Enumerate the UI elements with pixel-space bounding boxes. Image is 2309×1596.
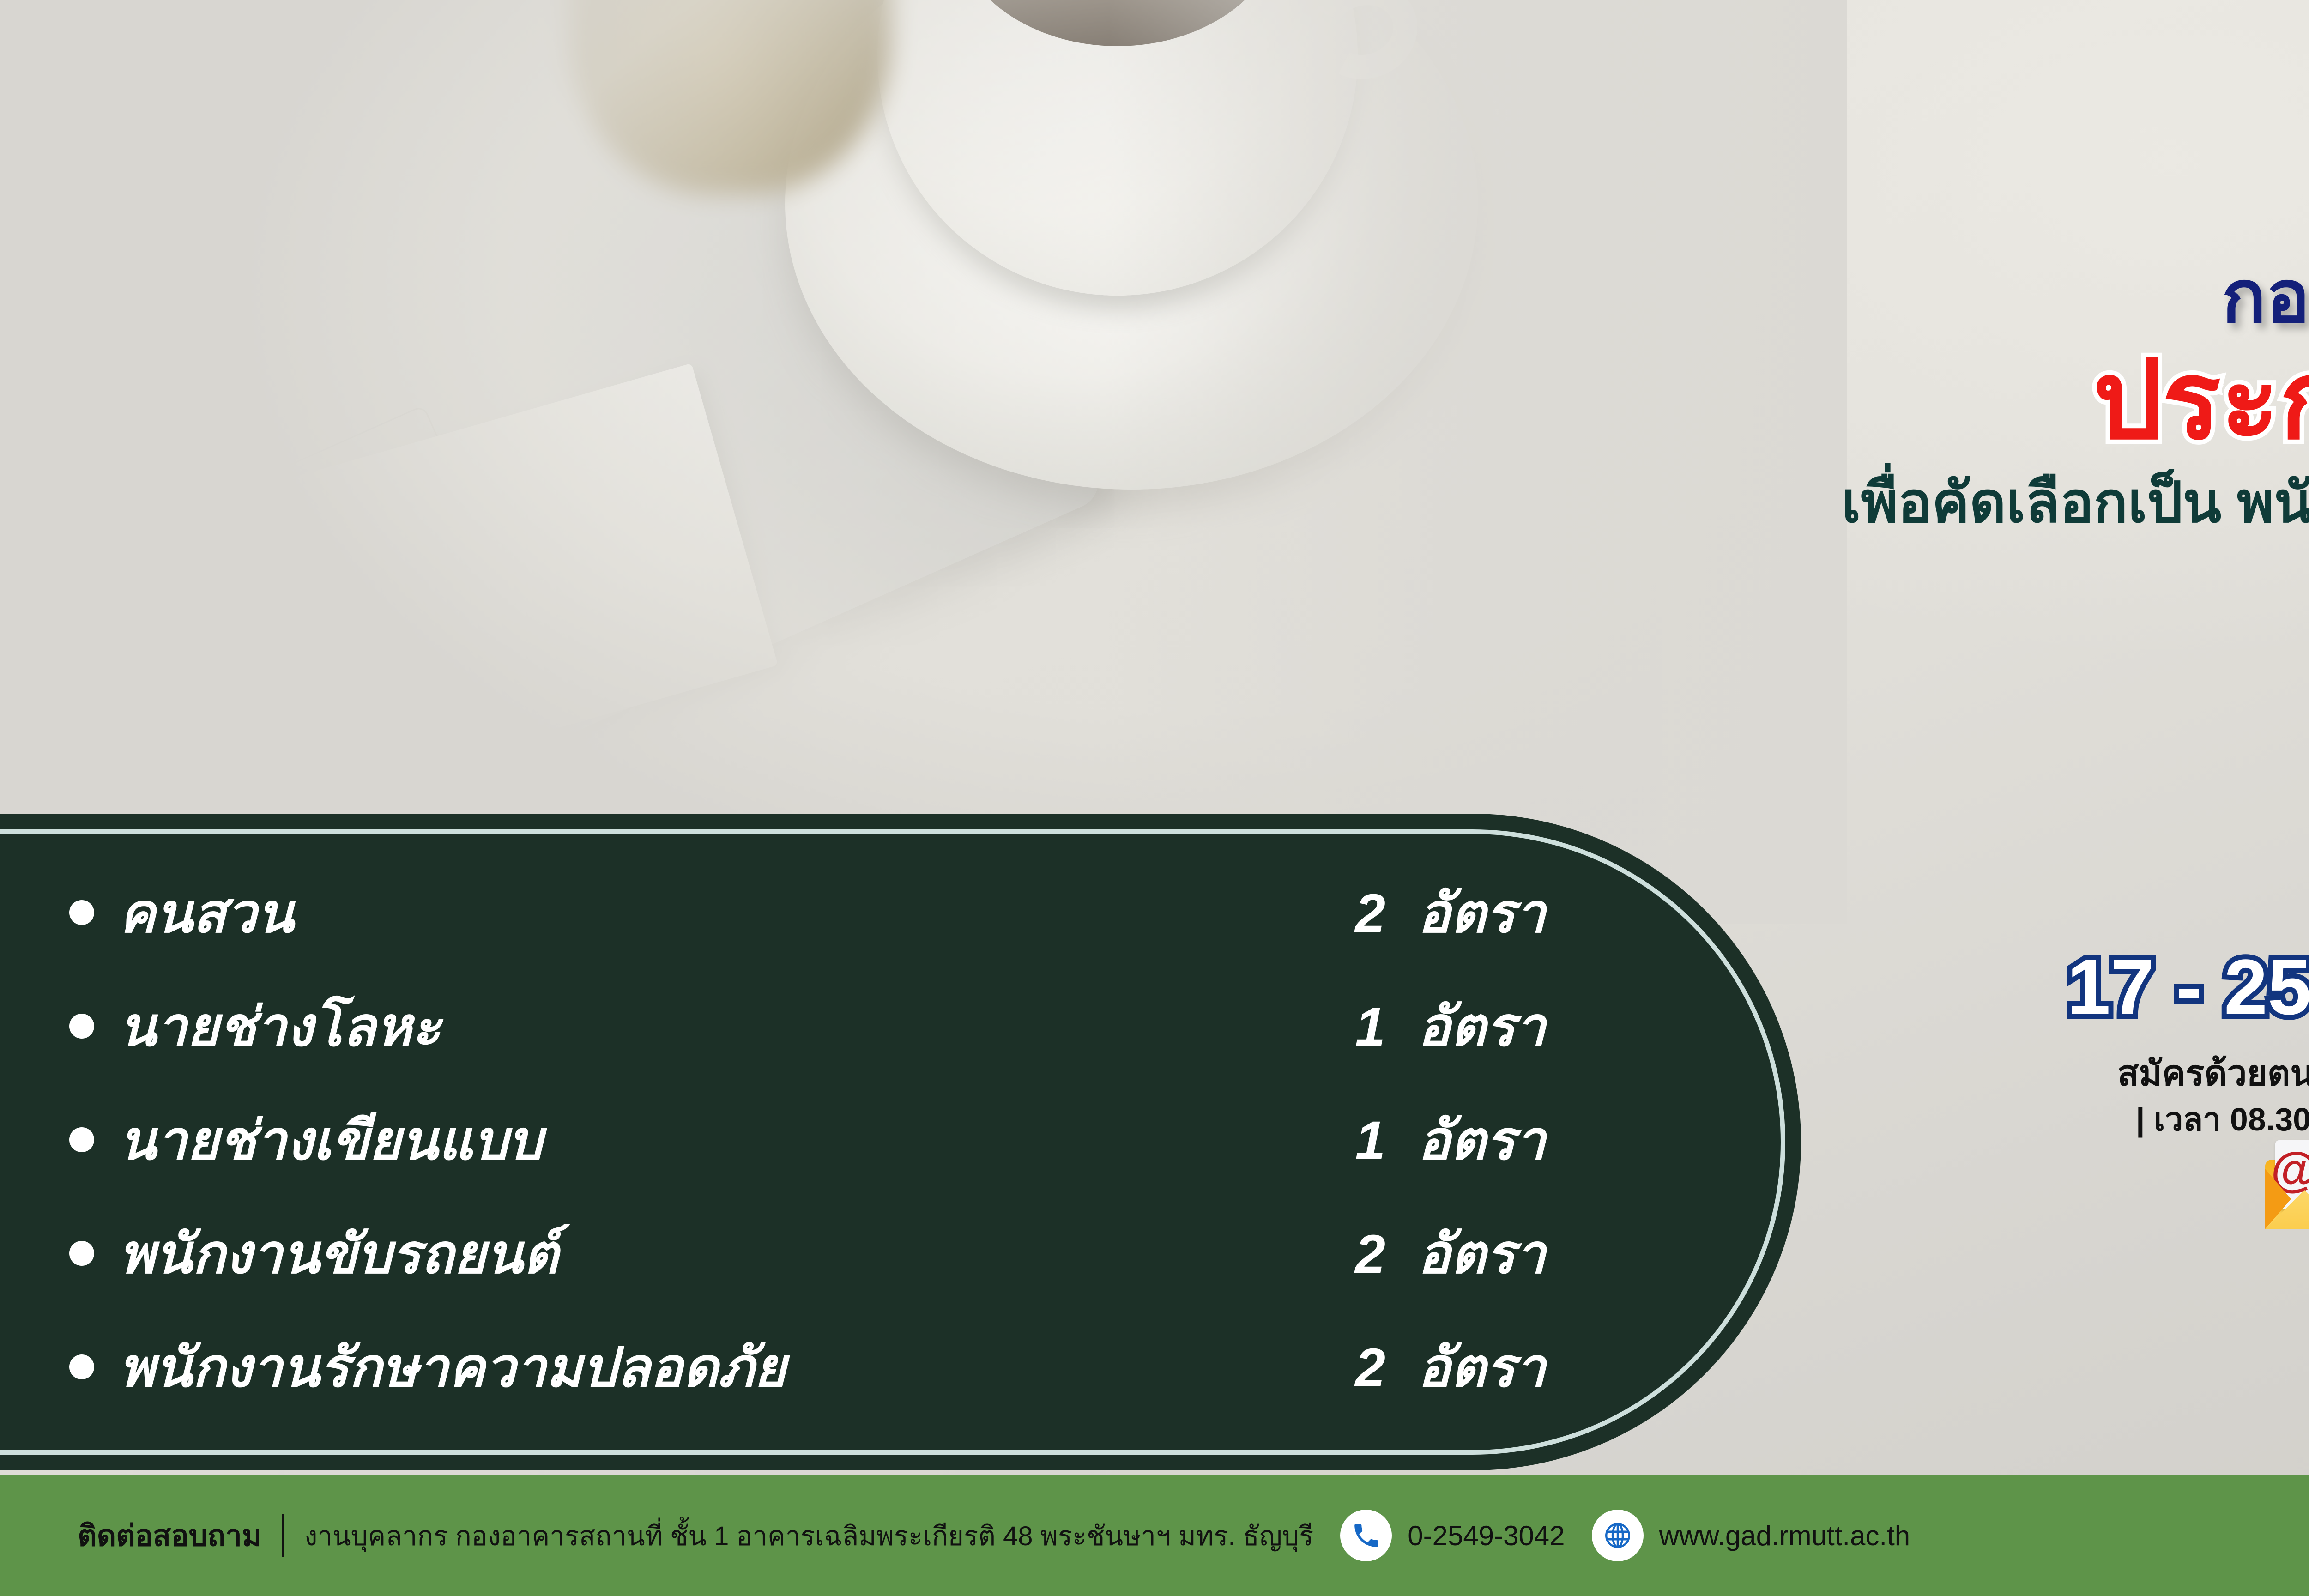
job-unit: อัตรา xyxy=(1385,1324,1538,1410)
bullet-icon xyxy=(69,1241,94,1266)
email-row: @ | aree_p@rmutt.ac.th xyxy=(1815,1160,2309,1229)
jobs-list: คนสวน 2 อัตรา นายช่างโลหะ 1 อัตรา นายช่า… xyxy=(69,869,1538,1437)
job-title: คนสวน xyxy=(119,883,1279,944)
walkin-location: สมัครด้วยตนเอง ณ กองอาคารสถานที่ มทร.ธัญ… xyxy=(1815,1052,2309,1095)
phone-number[interactable]: 0-2549-3042 xyxy=(1408,1520,1565,1552)
jobs-panel: คนสวน 2 อัตรา นายช่างโลหะ 1 อัตรา นายช่า… xyxy=(0,814,1801,1470)
job-count: 2 xyxy=(1279,1336,1385,1399)
footer-address: งานบุคลากร กองอาคารสถานที่ ชั้น 1 อาคารเ… xyxy=(304,1514,1313,1557)
job-count: 2 xyxy=(1279,882,1385,945)
list-item: พนักงานรักษาความปลอดภัย 2 อัตรา xyxy=(69,1324,1538,1410)
website-url[interactable]: www.gad.rmutt.ac.th xyxy=(1659,1520,1910,1552)
job-title: พนักงานรักษาความปลอดภัย xyxy=(119,1337,1279,1398)
bullet-icon xyxy=(69,900,94,925)
contact-label: ติดต่อสอบถาม xyxy=(78,1512,261,1559)
job-count: 1 xyxy=(1279,1109,1385,1172)
job-unit: อัตรา xyxy=(1385,1096,1538,1183)
footer-divider xyxy=(282,1514,284,1557)
globe-icon xyxy=(1592,1510,1644,1561)
job-title: นายช่างเขียนแบบ xyxy=(119,1110,1279,1171)
page-subtitle: เพื่อคัดเลือกเป็น พนักงานพิเศษเงินรายได้… xyxy=(957,472,2309,533)
office-hours: | เวลา 08.30 น. - 16.30 น. (ในวันและเวลา… xyxy=(1815,1100,2309,1140)
department-title: กองอาคารสถานที่ มทร.ธัญบุรี xyxy=(957,259,2309,336)
job-title: นายช่างโลหะ xyxy=(119,997,1279,1058)
date-label: ระหว่างวันที่ xyxy=(1815,868,2309,939)
job-count: 2 xyxy=(1279,1223,1385,1286)
list-item: คนสวน 2 อัตรา xyxy=(69,869,1538,956)
job-unit: อัตรา xyxy=(1385,1210,1538,1297)
footer-bar: ติดต่อสอบถาม งานบุคลากร กองอาคารสถานที่ … xyxy=(0,1475,2309,1596)
application-info: ระหว่างวันที่ 17 - 25 พฤศจิกายน 2568 สมั… xyxy=(1815,868,2309,1229)
job-unit: อัตรา xyxy=(1385,983,1538,1070)
list-item: พนักงานขับรถยนต์ 2 อัตรา xyxy=(69,1210,1538,1297)
bullet-icon xyxy=(69,1014,94,1039)
bullet-icon xyxy=(69,1127,94,1152)
envelope-email-icon: @ xyxy=(2265,1160,2309,1229)
page-title: ประกาศรับสมัครบุคคล xyxy=(957,344,2309,457)
job-unit: อัตรา xyxy=(1385,869,1538,956)
bullet-icon xyxy=(69,1354,94,1379)
list-item: นายช่างเขียนแบบ 1 อัตรา xyxy=(69,1096,1538,1183)
panel-bottom-border xyxy=(0,1450,259,1455)
panel-top-border xyxy=(0,829,259,834)
list-item: นายช่างโลหะ 1 อัตรา xyxy=(69,983,1538,1070)
date-range: 17 - 25 พฤศจิกายน 2568 xyxy=(1815,944,2309,1031)
job-count: 1 xyxy=(1279,996,1385,1058)
phone-icon xyxy=(1340,1510,1392,1561)
recruitment-poster: RMUTT www.gad.rmutt.ac.th กองอาคารสถานที… xyxy=(0,0,2309,1596)
heading-block: กองอาคารสถานที่ มทร.ธัญบุรี ประกาศรับสมั… xyxy=(957,259,2309,533)
job-title: พนักงานขับรถยนต์ xyxy=(119,1224,1279,1285)
